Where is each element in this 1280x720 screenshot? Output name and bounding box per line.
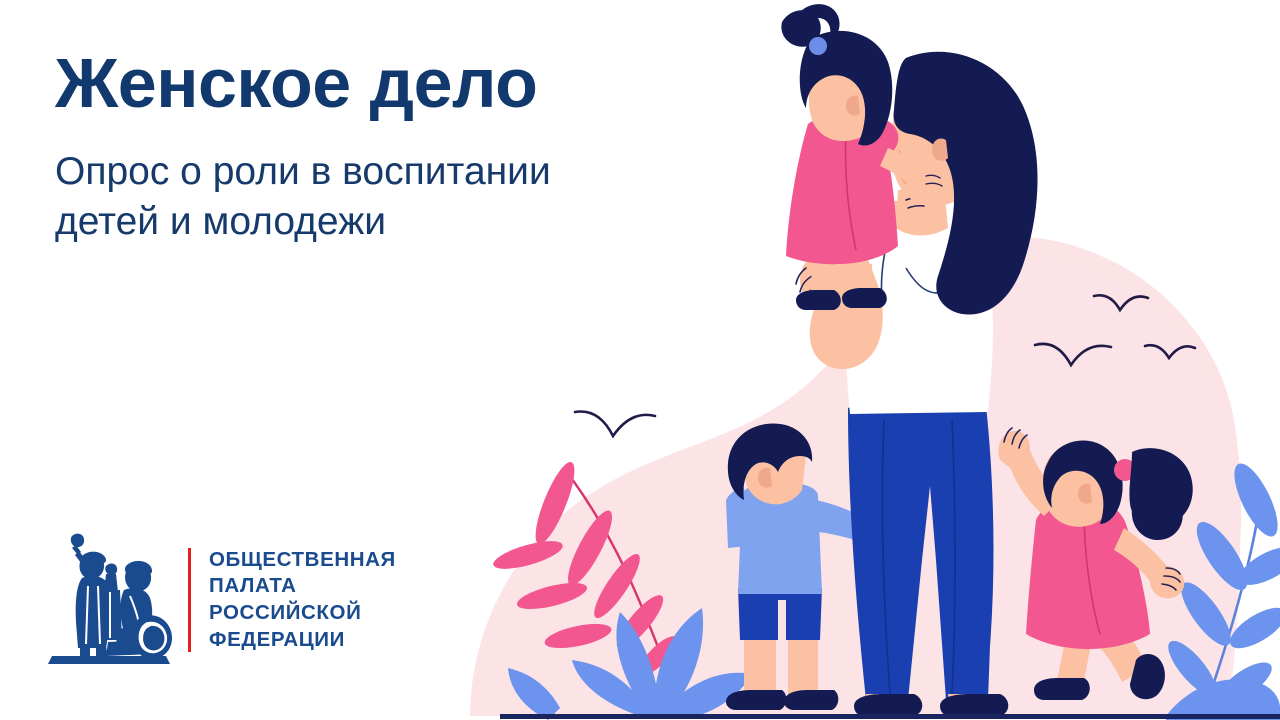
page-title: Женское дело [55, 48, 675, 119]
ground-line [500, 714, 1280, 719]
organization-logo: ОБЩЕСТВЕННАЯ ПАЛАТА РОССИЙСКОЙ ФЕДЕРАЦИИ [48, 528, 396, 672]
minin-pozharsky-monument-emblem [48, 530, 174, 670]
logo-divider [188, 548, 191, 652]
hair-tie-icon [809, 37, 827, 55]
headline-block: Женское дело Опрос о роли в воспитанииде… [55, 48, 675, 247]
logo-line-2: ПАЛАТА [209, 573, 396, 600]
poster-canvas: Женское дело Опрос о роли в воспитанииде… [0, 0, 1280, 720]
logo-line-4: ФЕДЕРАЦИИ [209, 627, 396, 654]
logo-line-3: РОССИЙСКОЙ [209, 600, 396, 627]
logo-line-1: ОБЩЕСТВЕННАЯ [209, 547, 396, 574]
page-subtitle-line-2: детей и молодежи [55, 200, 386, 243]
logo-text: ОБЩЕСТВЕННАЯ ПАЛАТА РОССИЙСКОЙ ФЕДЕРАЦИИ [209, 547, 396, 654]
page-subtitle: Опрос о роли в воспитаниидетей и молодеж… [55, 147, 655, 247]
page-subtitle-line-1: Опрос о роли в воспитании [55, 150, 551, 193]
